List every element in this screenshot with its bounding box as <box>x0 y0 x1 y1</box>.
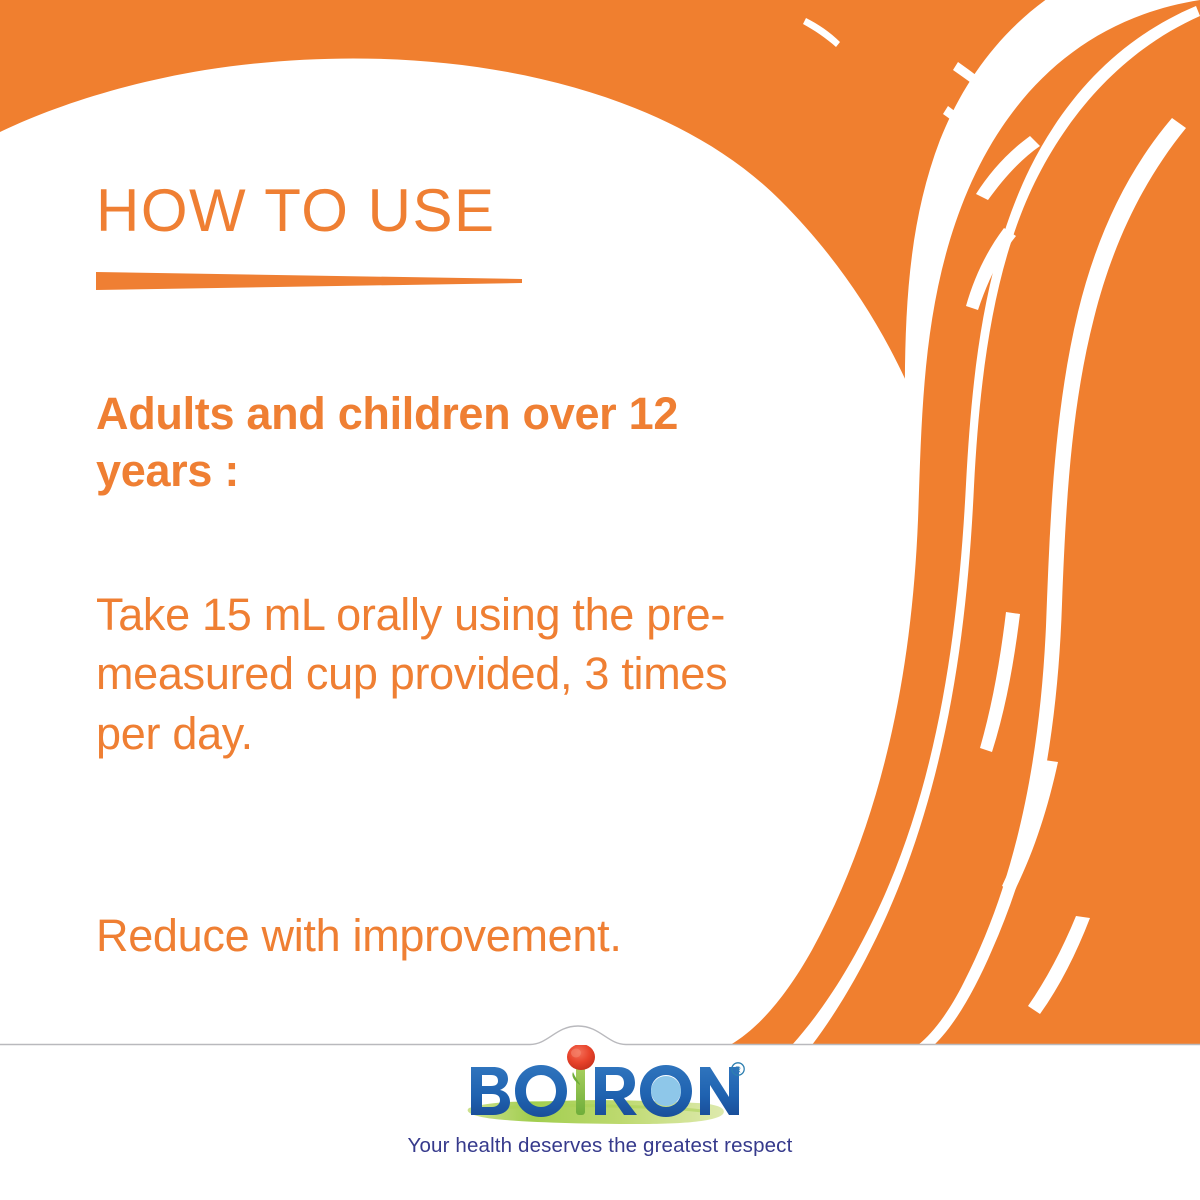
footer-divider <box>0 1023 1200 1047</box>
logo-letter-b <box>471 1067 510 1115</box>
tapered-underline-icon <box>96 272 522 290</box>
brand-tagline: Your health deserves the greatest respec… <box>0 1135 1200 1158</box>
dosage-audience-text: Adults and children over 12 years : <box>96 386 756 499</box>
content-column: HOW TO USE Adults and children over 12 y… <box>0 0 1200 1045</box>
logo-letter-o-second <box>640 1065 692 1117</box>
dosage-reduction-text: Reduce with improvement. <box>96 906 856 965</box>
poster-canvas: HOW TO USE Adults and children over 12 y… <box>0 0 1200 1200</box>
footer: R Your health deserves the greatest resp… <box>0 1045 1200 1200</box>
logo-letter-o-first <box>515 1065 567 1117</box>
boiron-logo: R <box>455 1045 745 1131</box>
page-title: HOW TO USE <box>96 181 496 241</box>
svg-text:R: R <box>735 1066 741 1075</box>
dosage-instruction-text: Take 15 mL orally using the pre-measured… <box>96 585 736 763</box>
brand-lockup: R Your health deserves the greatest resp… <box>0 1045 1200 1158</box>
